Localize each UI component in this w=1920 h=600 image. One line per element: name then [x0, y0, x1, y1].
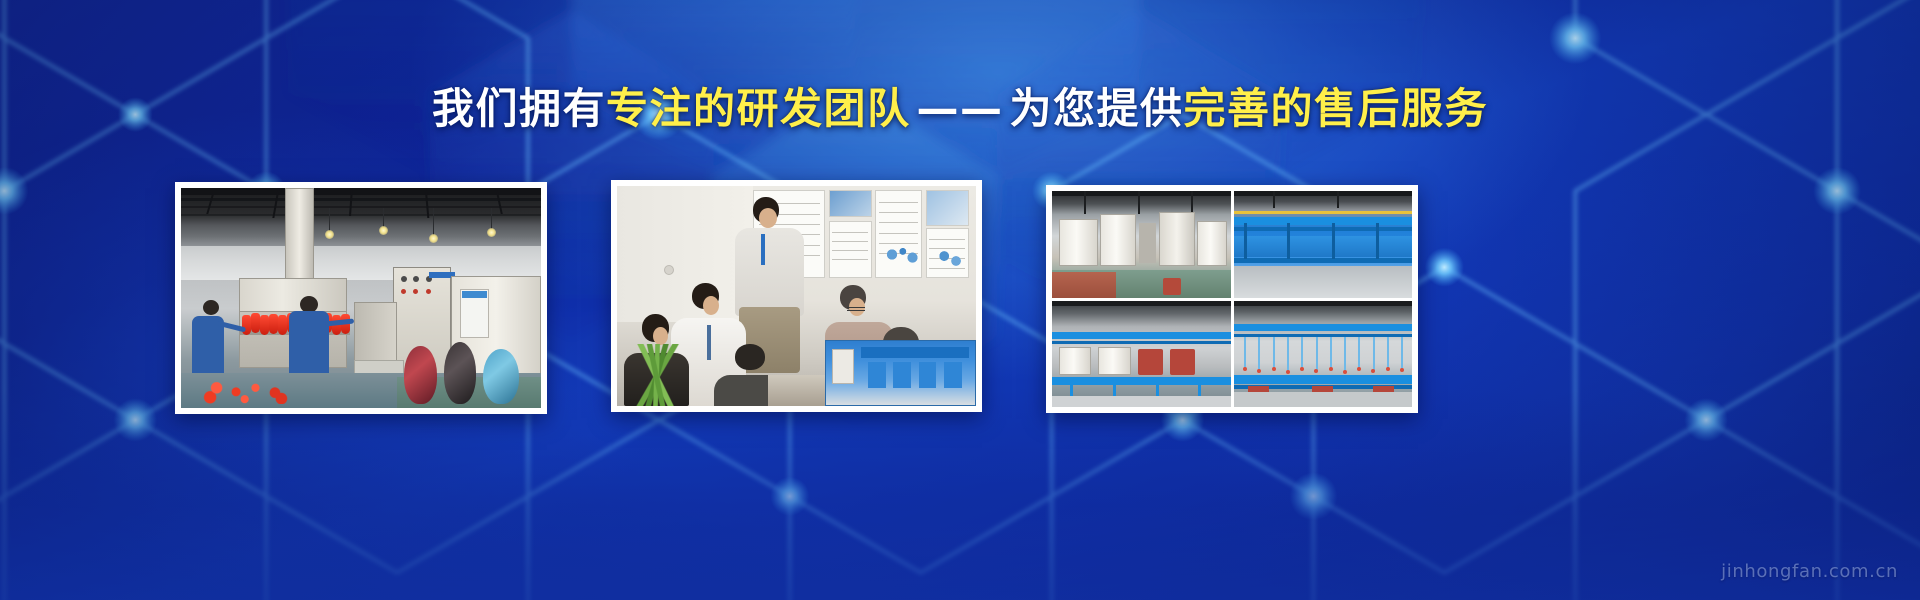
- bottom-gradient-overlay: [0, 390, 1920, 600]
- banner-headline: 我们拥有专注的研发团队——为您提供完善的售后服务: [0, 84, 1920, 134]
- site-watermark: jinhongfan.com.cn: [1721, 561, 1898, 582]
- decorative-vase-dark: [444, 342, 476, 404]
- photo-panel-production-line: [175, 182, 547, 414]
- headline-dash: ——: [911, 84, 1010, 133]
- production-line-image: [181, 188, 541, 408]
- facility-collage-image: [1052, 191, 1412, 407]
- headline-part-5-highlight: 完善的售后服务: [1184, 84, 1489, 133]
- photo-panel-team-meeting: [611, 180, 982, 412]
- headline-part-4: 为您提供: [1010, 84, 1184, 133]
- headline-part-2-highlight: 专注的研发团队: [606, 84, 911, 133]
- collage-cell-workshop: [1052, 191, 1231, 298]
- headline-part-1: 我们拥有: [432, 84, 606, 133]
- decorative-vase-blue: [483, 349, 519, 404]
- person-standing: [735, 228, 803, 316]
- photo-panel-facility-collage: [1046, 185, 1418, 413]
- promotional-banner: 我们拥有专注的研发团队——为您提供完善的售后服务: [0, 0, 1920, 600]
- photo-frame-inner: [617, 186, 976, 406]
- plant-decoration: [617, 344, 703, 406]
- photo-frame-inner: [1052, 191, 1412, 407]
- team-meeting-image: [617, 186, 976, 406]
- collage-cell-hanging-jigs: [1234, 301, 1413, 408]
- collage-cell-coating-line: [1234, 191, 1413, 298]
- decorative-vase-red: [404, 346, 436, 403]
- photo-frame-inner: [181, 188, 541, 408]
- collage-cell-conveyor: [1052, 301, 1231, 408]
